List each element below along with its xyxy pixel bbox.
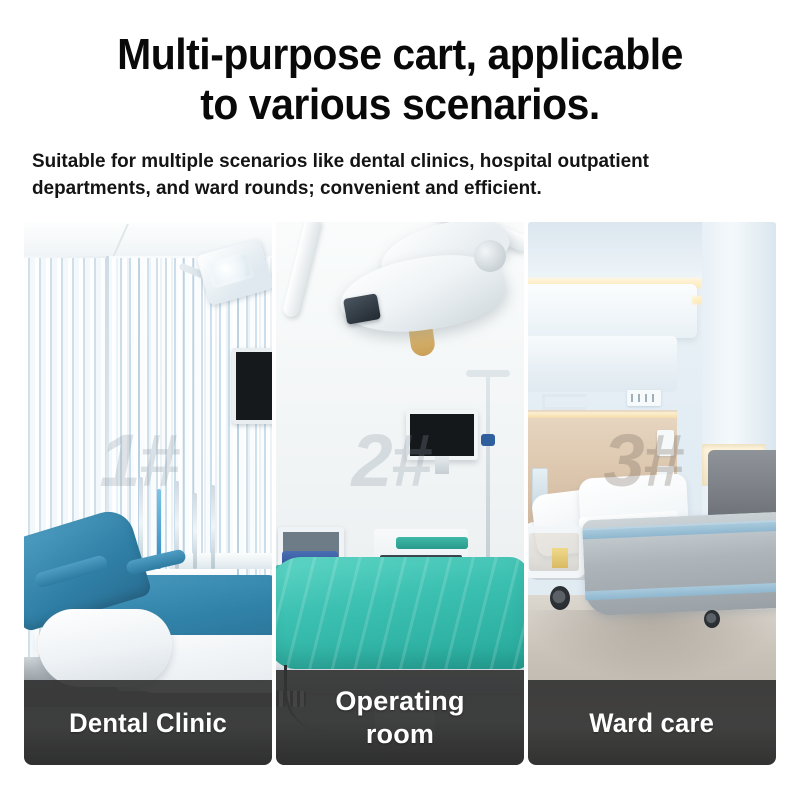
operating-table-green-drape <box>276 557 524 669</box>
page-title: Multi-purpose cart, applicable to variou… <box>65 30 735 130</box>
wall-recess-slot <box>542 394 586 410</box>
scenario-panel-dental-clinic[interactable]: 1# Dental Clinic <box>24 222 272 765</box>
panel-caption-text: Dental Clinic <box>69 708 227 738</box>
panel-caption-band: Operating room <box>276 670 524 765</box>
floor-shadow <box>528 610 776 680</box>
panel-caption-band: Dental Clinic <box>24 680 272 765</box>
wall-outlet-panel <box>627 390 661 406</box>
wall-panel-upper <box>528 284 697 338</box>
dental-chair-base <box>38 609 172 687</box>
bed-rail-tag <box>552 548 568 568</box>
dental-handpiece <box>193 493 197 569</box>
bed-caster-front <box>550 586 570 610</box>
scenario-panel-operating-room[interactable]: 2# Operating room <box>276 222 524 765</box>
scenario-panel-row: 1# Dental Clinic <box>24 222 776 765</box>
panel-caption-band: Ward care <box>528 680 776 765</box>
scenario-panel-ward-care[interactable]: 3# Ward care <box>528 222 776 765</box>
panel-caption-line-1: Operating <box>335 686 464 716</box>
panel-caption-text: Ward care <box>590 708 715 738</box>
wall-panel-lower <box>528 336 677 392</box>
page-title-line-1: Multi-purpose cart, applicable <box>117 30 683 79</box>
surgical-lamp-joint-knob <box>474 240 506 272</box>
page-title-line-2: to various scenarios. <box>65 80 735 130</box>
green-equipment-pad <box>396 537 468 549</box>
panel-caption-text: Operating room <box>335 685 464 751</box>
wall-monitor <box>232 348 272 424</box>
panel-caption-line-2: room <box>366 719 434 749</box>
dental-handpiece <box>211 485 215 569</box>
surgical-display-monitor <box>406 410 478 460</box>
product-scenario-page: Multi-purpose cart, applicable to variou… <box>0 0 800 800</box>
page-subtitle: Suitable for multiple scenarios like den… <box>32 148 761 202</box>
bed-caster-rear <box>704 610 720 628</box>
bed-blanket <box>582 512 776 617</box>
headboard-light-strip <box>528 412 677 418</box>
bedside-switch-upper <box>657 430 674 456</box>
